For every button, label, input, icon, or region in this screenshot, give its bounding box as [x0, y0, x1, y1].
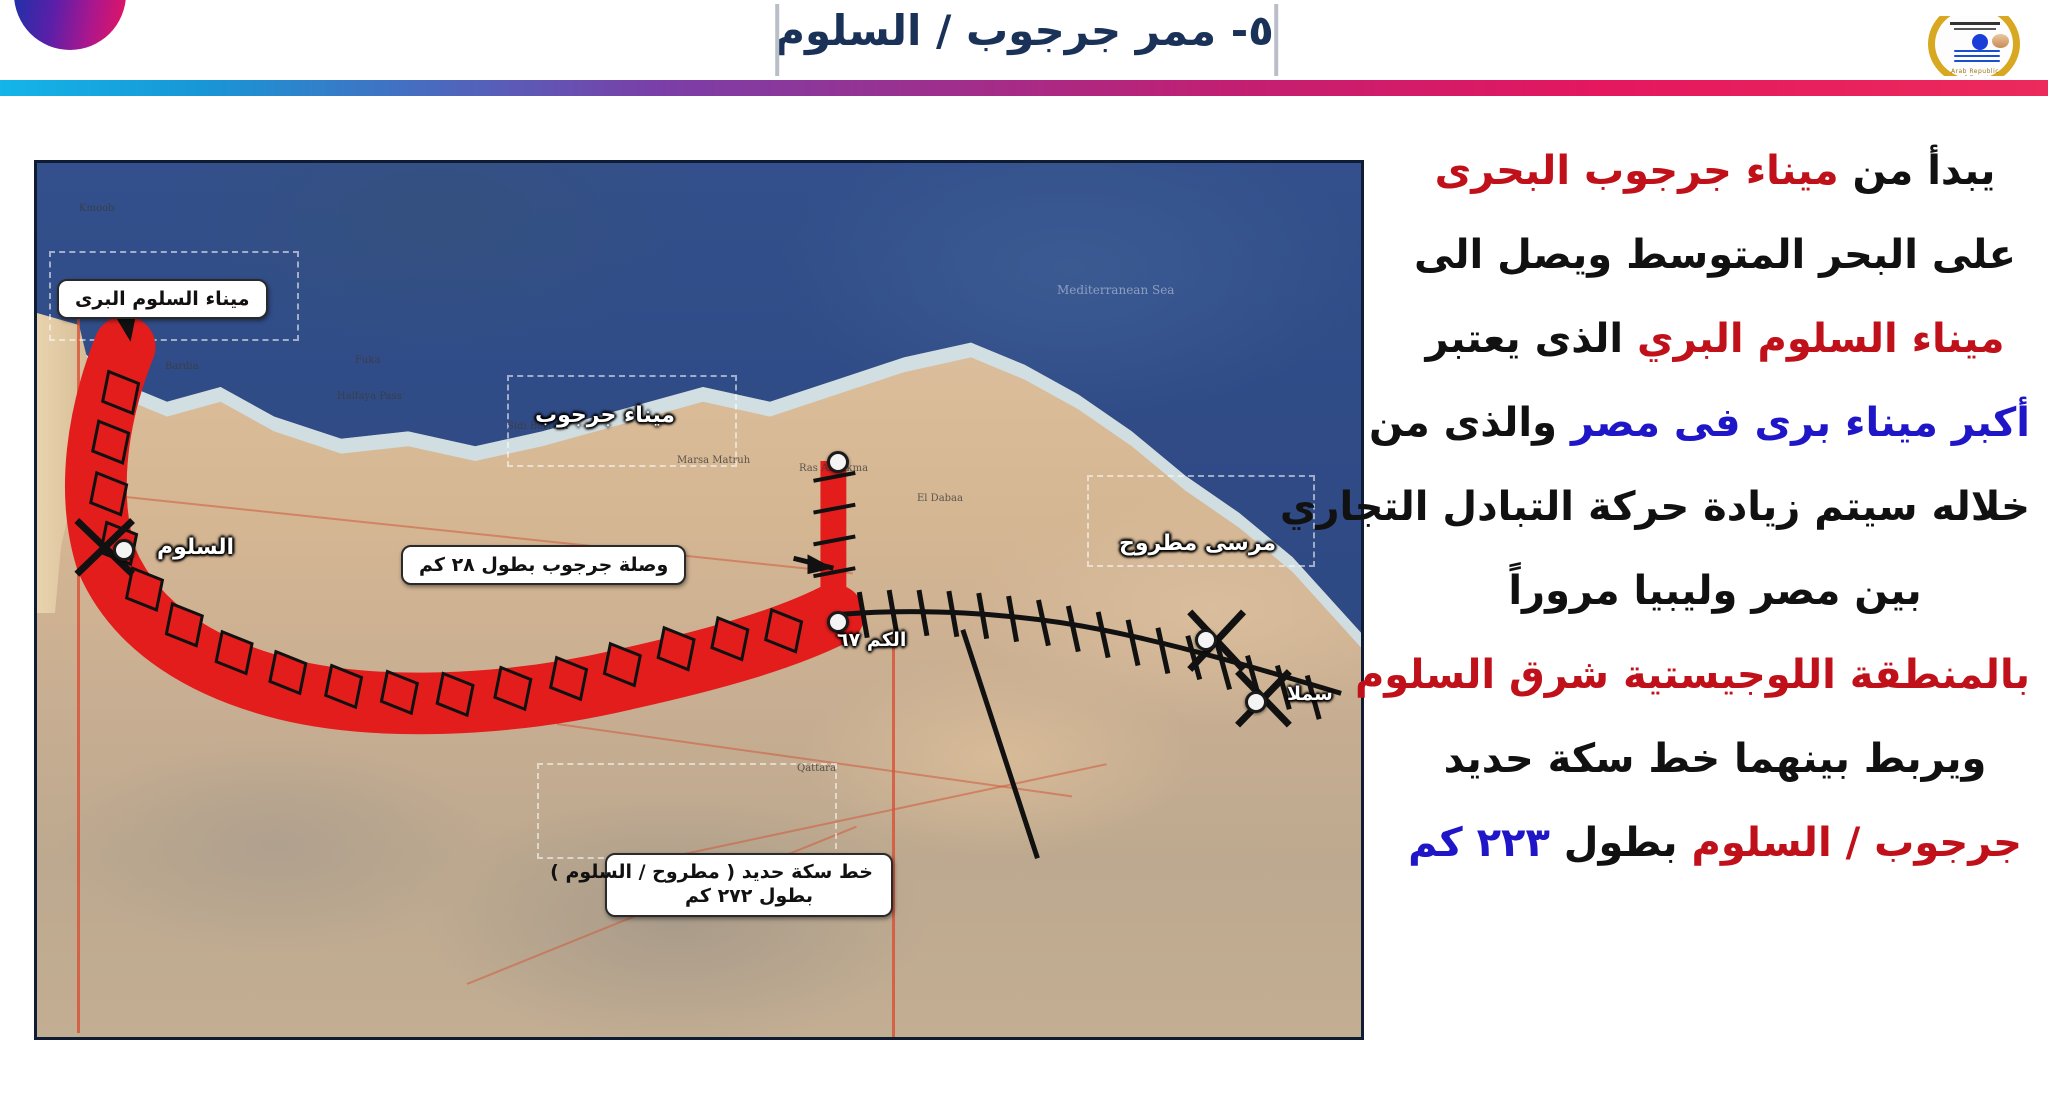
header-gradient-rule [0, 80, 2048, 96]
page-title-text: ٥- ممر جرجوب / السلوم [774, 6, 1274, 55]
description-line-3: ميناء السلوم البري الذى يعتبر [1400, 318, 2030, 360]
line3-part1-highlight: ميناء السلوم البري [1637, 316, 2005, 362]
logo-top-rule-1 [1950, 22, 2000, 25]
geo-text-halfaya: Halfaya Pass [337, 391, 402, 402]
description-line-9: جرجوب / السلوم بطول ٢٢٣ كم [1400, 822, 2030, 864]
line2-part1: على البحر المتوسط ويصل الى [1414, 232, 2016, 278]
line5-part1: خلاله سيتم زيادة حركة التبادل التجاري [1280, 484, 2030, 530]
label-railway-line-1: خط سكة حديد ( مطروح / السلوم ) [625, 861, 873, 885]
marker-marsa-matrouh[interactable] [1195, 629, 1217, 651]
geo-text-mediterranean: Mediterranean Sea [1057, 283, 1174, 297]
label-km-67[interactable]: الكم ٦٧ [837, 629, 906, 651]
line9-part1-highlight: جرجوب / السلوم [1692, 820, 2022, 866]
line6-part1: بين مصر وليبيا مروراً [1508, 568, 1921, 614]
line8-part1: ويربط بينهما خط سكة حديد [1444, 736, 1987, 782]
label-railway-line-2: بطول ٢٧٢ كم [625, 885, 873, 909]
logo-waves-icon [1954, 50, 2002, 66]
description-panel: يبدأ من ميناء جرجوب البحرى على البحر الم… [1400, 150, 2030, 1080]
geo-text-el-dabaa: El Dabaa [917, 493, 963, 504]
line3-part2: الذى يعتبر [1426, 316, 1637, 362]
marker-gargoub-port[interactable] [827, 451, 849, 473]
geo-text-bardia: Bardia [165, 361, 199, 372]
marker-salloum-city[interactable] [113, 539, 135, 561]
label-salloum-city[interactable]: السلوم [157, 535, 234, 560]
title-right-rule [1274, 4, 1278, 76]
map-satellite-image[interactable]: Kmoob Bardia Halfaya Pass Sidi Barrani F… [34, 160, 1364, 1040]
label-railway-line[interactable]: خط سكة حديد ( مطروح / السلوم ) بطول ٢٧٢ … [605, 853, 893, 917]
label-sidi-barrani[interactable]: سملا [1287, 683, 1333, 705]
line4-part2: والذى من [1369, 400, 1571, 446]
label-salloum-land-port[interactable]: ميناء السلوم البرى [57, 279, 268, 319]
line4-part1-highlight: أكبر ميناء برى فى مصر [1571, 400, 2030, 446]
page-header: ٥- ممر جرجوب / السلوم Arab Republic of E… [0, 0, 2048, 90]
geo-text-marsa-matruh: Marsa Matruh [677, 455, 750, 466]
description-line-6: بين مصر وليبيا مروراً [1400, 570, 2030, 612]
label-gargoub-link[interactable]: وصلة جرجوب بطول ٢٨ كم [401, 545, 686, 585]
organization-logo: Arab Republic of Egypt [1928, 2, 2024, 86]
description-line-5: خلاله سيتم زيادة حركة التبادل التجاري [1400, 486, 2030, 528]
logo-top-rule-2 [1954, 28, 1996, 30]
geo-text-fuka: Fuka [355, 355, 380, 366]
logo-sun-icon [1992, 34, 2009, 48]
logo-top-mask [1925, 0, 2025, 16]
logo-globe-icon [1972, 34, 1988, 50]
description-line-8: ويربط بينهما خط سكة حديد [1400, 738, 2030, 780]
page-title: ٥- ممر جرجوب / السلوم [774, 6, 1274, 55]
line9-part2: بطول [1550, 820, 1692, 866]
description-line-1: يبدأ من ميناء جرجوب البحرى [1400, 150, 2030, 192]
description-line-7: بالمنطقة اللوجيستية شرق السلوم [1400, 654, 2030, 696]
description-line-4: أكبر ميناء برى فى مصر والذى من [1400, 402, 2030, 444]
geo-text-qattara: Qattara [797, 763, 836, 774]
label-gargoub-port[interactable]: ميناء جرجوب [535, 403, 675, 428]
description-line-2: على البحر المتوسط ويصل الى [1400, 234, 2030, 276]
railway-label-leader [963, 630, 1038, 858]
line7-part1-highlight: بالمنطقة اللوجيستية شرق السلوم [1355, 652, 2030, 698]
marker-sidi-barrani[interactable] [1245, 691, 1267, 713]
line1-part2-highlight: ميناء جرجوب البحرى [1435, 148, 1839, 194]
railway-matrouh-salloum [833, 612, 1341, 694]
label-marsa-matrouh[interactable]: مرسى مطروح [1119, 531, 1276, 556]
title-left-rule [775, 4, 779, 76]
line9-part3-highlight: ٢٢٣ كم [1408, 820, 1550, 866]
geo-text-salloum: Kmoob [79, 203, 114, 214]
decorative-corner-blob [14, 0, 126, 50]
line1-part1: يبدأ من [1839, 148, 1996, 194]
